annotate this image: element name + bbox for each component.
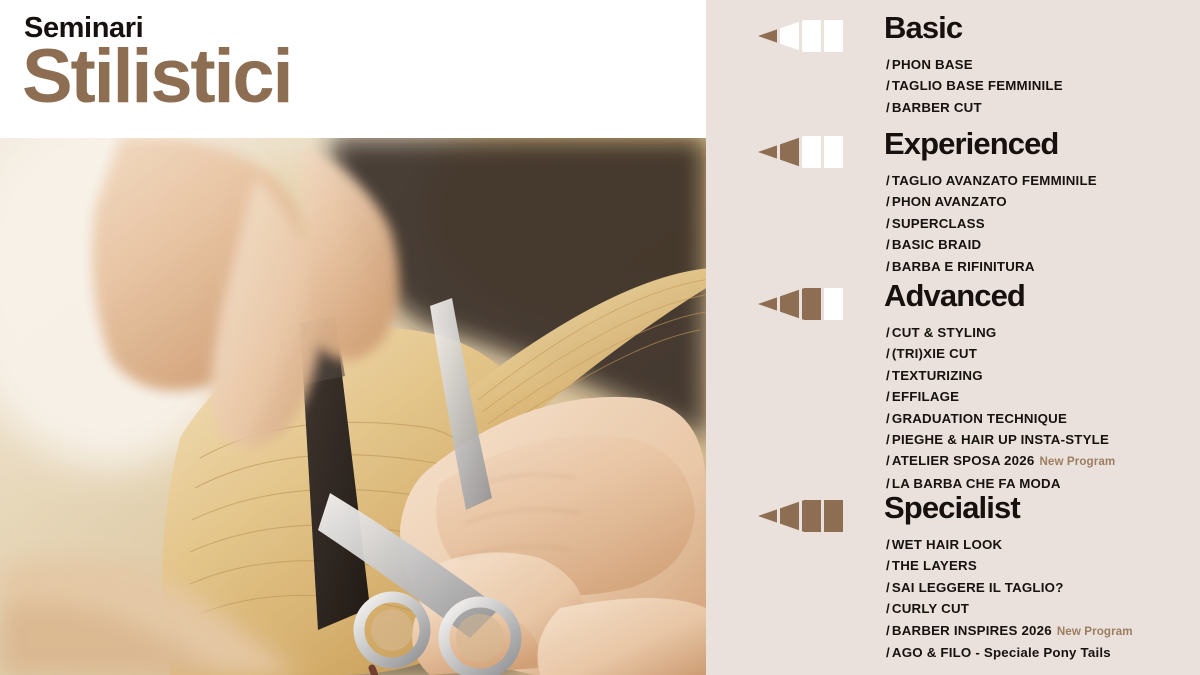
slash-bullet: / [886,100,890,115]
slash-bullet: / [886,623,890,638]
item-label: BASIC BRAID [892,237,981,252]
section-list-basic: /PHON BASE /TAGLIO BASE FEMMINILE /BARBE… [886,54,1063,118]
slash-bullet: / [886,237,890,252]
list-item[interactable]: /SAI LEGGERE IL TAGLIO? [886,577,1133,598]
slash-bullet: / [886,194,890,209]
level-wedge-svg [758,20,850,52]
slash-bullet: / [886,216,890,231]
slash-bullet: / [886,601,890,616]
slash-bullet: / [886,411,890,426]
section-list-experienced: /TAGLIO AVANZATO FEMMINILE /PHON AVANZAT… [886,170,1097,277]
item-label: BARBA E RIFINITURA [892,259,1035,274]
section-heading-experienced: Experienced [884,128,1058,161]
list-item[interactable]: /CURLY CUT [886,598,1133,619]
section-list-specialist: /WET HAIR LOOK /THE LAYERS /SAI LEGGERE … [886,534,1133,663]
slash-bullet: / [886,453,890,468]
item-label: WET HAIR LOOK [892,537,1002,552]
slash-bullet: / [886,389,890,404]
item-label: ATELIER SPOSA 2026 [892,453,1035,468]
item-label: SUPERCLASS [892,216,985,231]
slash-bullet: / [886,558,890,573]
list-item[interactable]: /BASIC BRAID [886,234,1097,255]
slash-bullet: / [886,78,890,93]
item-label: TAGLIO AVANZATO FEMMINILE [892,173,1097,188]
new-program-badge: New Program [1039,455,1115,468]
list-item[interactable]: /TAGLIO BASE FEMMINILE [886,75,1063,96]
item-label: PHON BASE [892,57,973,72]
item-label: CURLY CUT [892,601,969,616]
list-item[interactable]: /PIEGHE & HAIR UP INSTA-STYLE [886,429,1115,450]
section-heading-advanced: Advanced [884,280,1025,313]
page-title: Stilistici [22,41,291,113]
list-item[interactable]: /BARBER INSPIRES 2026New Program [886,620,1133,642]
slash-bullet: / [886,57,890,72]
list-item[interactable]: /BARBER CUT [886,97,1063,118]
slash-bullet: / [886,368,890,383]
slash-bullet: / [886,259,890,274]
section-list-advanced: /CUT & STYLING /(TRI)XIE CUT /TEXTURIZIN… [886,322,1115,494]
item-label: BARBER INSPIRES 2026 [892,623,1052,638]
list-item[interactable]: /(TRI)XIE CUT [886,343,1115,364]
slash-bullet: / [886,580,890,595]
level-wedge-svg [758,136,850,168]
list-item[interactable]: /TEXTURIZING [886,365,1115,386]
level-wedge-icon-specialist [758,500,850,532]
item-label: (TRI)XIE CUT [892,346,977,361]
slash-bullet: / [886,476,890,491]
list-item[interactable]: /TAGLIO AVANZATO FEMMINILE [886,170,1097,191]
item-label: CUT & STYLING [892,325,997,340]
left-column: Seminari Stilistici [0,0,706,675]
slash-bullet: / [886,645,890,660]
level-wedge-icon-basic [758,20,850,52]
item-label: TAGLIO BASE FEMMINILE [892,78,1063,93]
list-item[interactable]: /PHON AVANZATO [886,191,1097,212]
item-label: PIEGHE & HAIR UP INSTA-STYLE [892,432,1109,447]
level-wedge-icon-experienced [758,136,850,168]
slash-bullet: / [886,346,890,361]
title-block: Seminari Stilistici [0,0,706,138]
section-heading-basic: Basic [884,12,962,45]
level-wedge-icon-advanced [758,288,850,320]
program-panel: Basic /PHON BASE /TAGLIO BASE FEMMINILE … [706,0,1200,675]
item-label: GRADUATION TECHNIQUE [892,411,1067,426]
item-label: TEXTURIZING [892,368,983,383]
slash-bullet: / [886,173,890,188]
level-wedge-svg [758,500,850,532]
item-label: THE LAYERS [892,558,977,573]
list-item[interactable]: /EFFILAGE [886,386,1115,407]
item-label: EFFILAGE [892,389,959,404]
item-label: LA BARBA CHE FA MODA [892,476,1061,491]
level-wedge-svg [758,288,850,320]
list-item[interactable]: /SUPERCLASS [886,213,1097,234]
list-item[interactable]: /THE LAYERS [886,555,1133,576]
item-label: SAI LEGGERE IL TAGLIO? [892,580,1064,595]
salon-photo [0,138,706,675]
salon-photo-illustration [0,138,706,675]
list-item[interactable]: /WET HAIR LOOK [886,534,1133,555]
list-item[interactable]: /PHON BASE [886,54,1063,75]
slash-bullet: / [886,537,890,552]
new-program-badge: New Program [1057,625,1133,638]
slash-bullet: / [886,325,890,340]
list-item[interactable]: /AGO & FILO - Speciale Pony Tails [886,642,1133,663]
slide-root: Seminari Stilistici Basic /PHON BASE /TA… [0,0,1200,675]
item-label: AGO & FILO - Speciale Pony Tails [892,645,1111,660]
slash-bullet: / [886,432,890,447]
list-item[interactable]: /ATELIER SPOSA 2026New Program [886,450,1115,472]
list-item[interactable]: /GRADUATION TECHNIQUE [886,408,1115,429]
section-heading-specialist: Specialist [884,492,1020,525]
item-label: PHON AVANZATO [892,194,1007,209]
item-label: BARBER CUT [892,100,982,115]
list-item[interactable]: /CUT & STYLING [886,322,1115,343]
list-item[interactable]: /BARBA E RIFINITURA [886,256,1097,277]
